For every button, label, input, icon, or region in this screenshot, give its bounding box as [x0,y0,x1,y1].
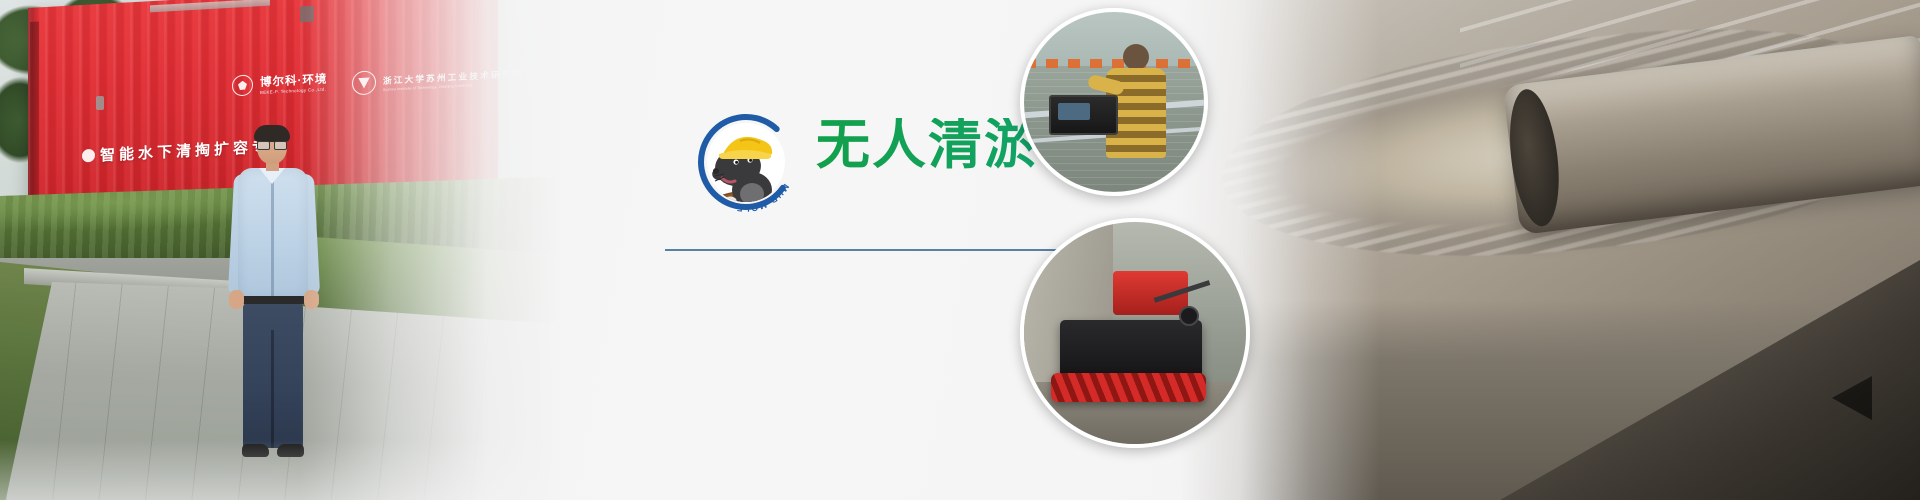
operator-head [1123,44,1149,70]
container-latch [96,96,104,110]
hero-banner: 博尔科·环境 BEKE-P. Technology Co.,Ltd. 浙江大学苏… [0,0,1920,500]
person-left-hand [229,290,244,309]
person-trousers [243,302,303,448]
container-door-seam [30,21,39,212]
shield-icon [232,74,253,96]
robot-red-auger [1051,373,1206,402]
dredging-robot-photo [1020,218,1250,448]
eyeglasses-icon [257,141,287,148]
portable-control-console [1049,95,1118,135]
person-belt [241,296,305,304]
bullet-icon [82,149,95,163]
right-photo [1180,0,1920,500]
person-hair [254,125,290,142]
left-photo: 博尔科·环境 BEKE-P. Technology Co.,Ltd. 浙江大学苏… [0,0,560,500]
arrow-icon [1832,376,1872,420]
mud-mole-logo: MUD MOLE [688,104,804,220]
shirt-placket [271,178,274,296]
operator-control-panel-photo [1020,8,1208,196]
